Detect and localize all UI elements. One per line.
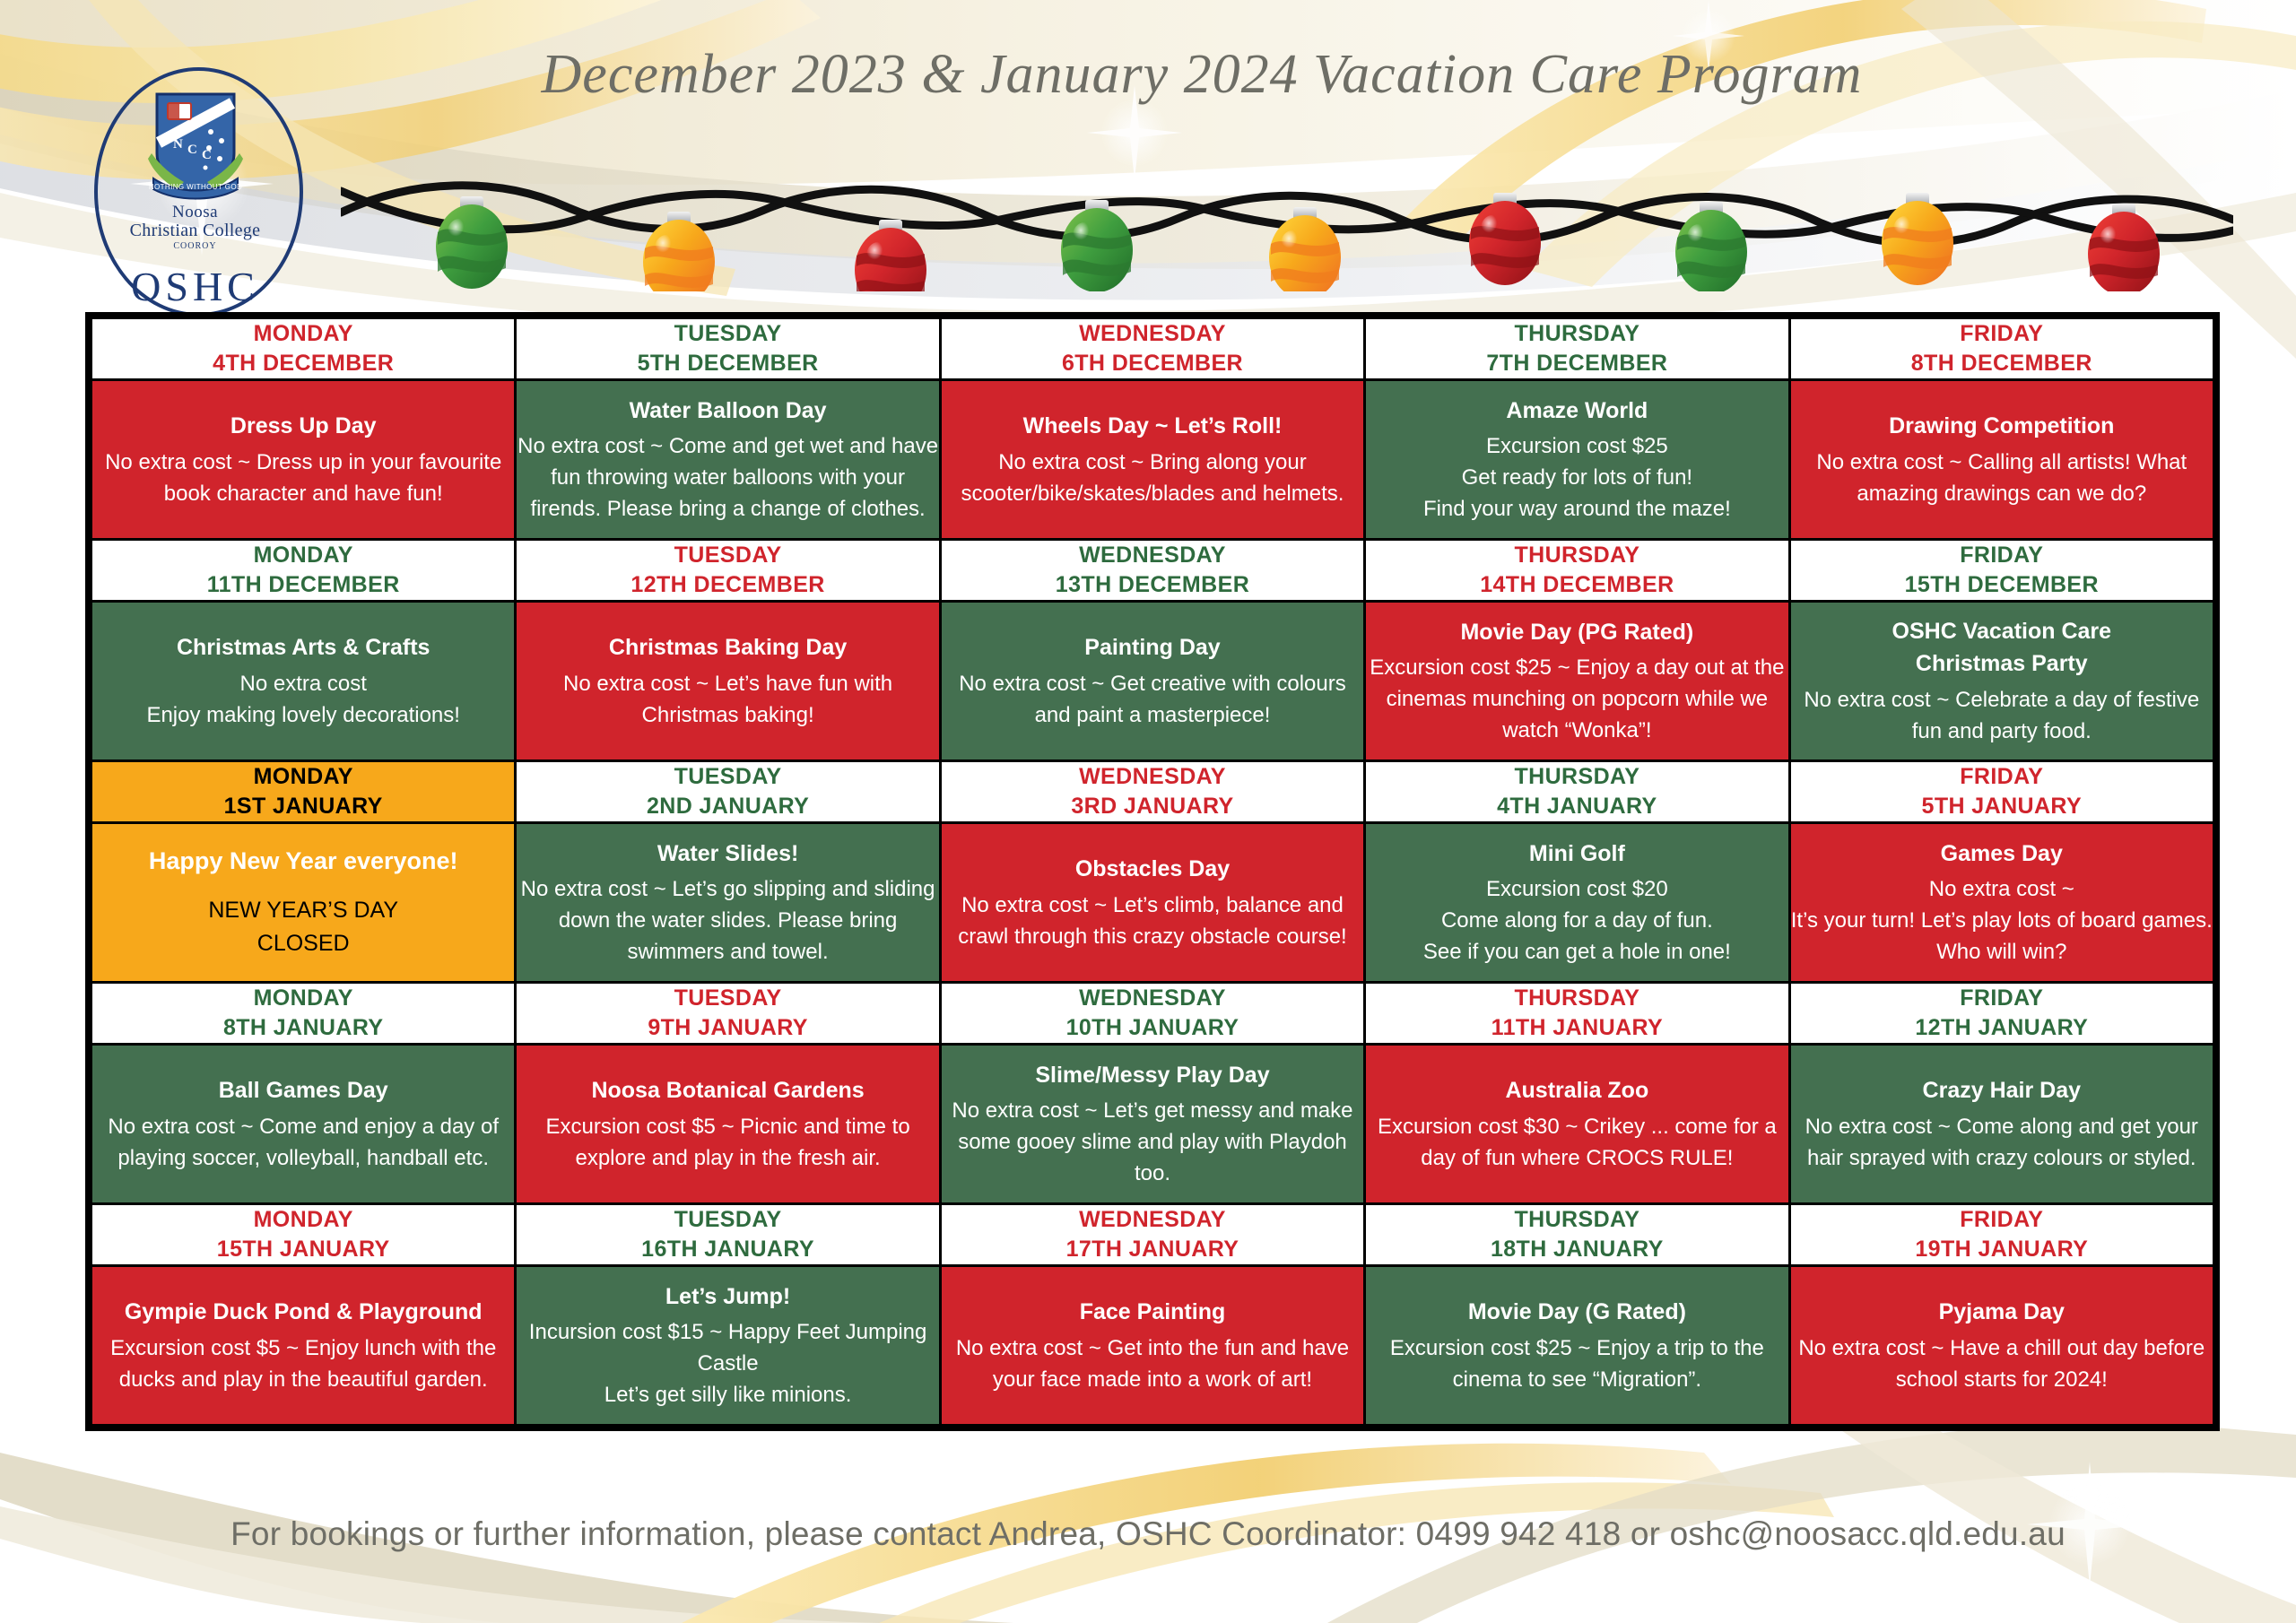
day-date-label: 8TH DECEMBER bbox=[1791, 349, 2213, 378]
day-of-week-label: MONDAY bbox=[92, 541, 514, 570]
day-of-week-label: TUESDAY bbox=[517, 541, 938, 570]
day-date-label: 11TH JANUARY bbox=[1366, 1013, 1787, 1043]
activity-cell[interactable]: Christmas Baking DayNo extra cost ~ Let’… bbox=[516, 602, 940, 761]
activity-description: Excursion cost $30 ~ Crikey ... come for… bbox=[1366, 1111, 1787, 1174]
activity-description: No extra cost ~ Bring along your scooter… bbox=[942, 447, 1363, 509]
activity-title: Water Slides! bbox=[517, 838, 938, 871]
activity-description: No extra cost ~ Let’s climb, balance and… bbox=[942, 890, 1363, 952]
activity-description: Excursion cost $20Come along for a day o… bbox=[1366, 873, 1787, 968]
activity-cell[interactable]: Christmas Arts & CraftsNo extra costEnjo… bbox=[91, 602, 516, 761]
logo-line-2: Christian College bbox=[94, 221, 296, 240]
day-date-label: 12TH JANUARY bbox=[1791, 1013, 2213, 1043]
day-date-label: 3RD JANUARY bbox=[942, 792, 1363, 821]
day-of-week-label: TUESDAY bbox=[517, 319, 938, 349]
activity-description: Excursion cost $25 ~ Enjoy a day out at … bbox=[1366, 652, 1787, 746]
activity-title: Slime/Messy Play Day bbox=[942, 1059, 1363, 1092]
activity-description: No extra cost ~ Let’s have fun with Chri… bbox=[517, 668, 938, 731]
calendar-activity-row: Happy New Year everyone!NEW YEAR’S DAYCL… bbox=[91, 823, 2214, 983]
day-of-week-label: FRIDAY bbox=[1791, 1205, 2213, 1235]
day-header-cell: FRIDAY15TH DECEMBER bbox=[1789, 540, 2213, 602]
day-header-cell: FRIDAY19TH JANUARY bbox=[1789, 1204, 2213, 1266]
day-header-cell: MONDAY4TH DECEMBER bbox=[91, 318, 516, 380]
day-date-label: 15TH DECEMBER bbox=[1791, 570, 2213, 600]
activity-cell[interactable]: Pyjama DayNo extra cost ~ Have a chill o… bbox=[1789, 1266, 2213, 1426]
activity-description: No extra cost ~ Get creative with colour… bbox=[942, 668, 1363, 731]
activity-description: Excursion cost $25 ~ Enjoy a trip to the… bbox=[1366, 1332, 1787, 1395]
day-of-week-label: THURSDAY bbox=[1366, 1205, 1787, 1235]
day-date-label: 11TH DECEMBER bbox=[92, 570, 514, 600]
activity-cell[interactable]: Australia ZooExcursion cost $30 ~ Crikey… bbox=[1365, 1045, 1789, 1204]
day-header-cell: TUESDAY12TH DECEMBER bbox=[516, 540, 940, 602]
bulb-orange-2 bbox=[1269, 207, 1341, 291]
school-logo: N C C NOTHING WITHOUT GOD Noosa Christia… bbox=[94, 67, 296, 309]
day-of-week-label: TUESDAY bbox=[517, 984, 938, 1013]
activity-title: Obstacles Day bbox=[942, 853, 1363, 886]
day-date-label: 18TH JANUARY bbox=[1366, 1235, 1787, 1264]
bulb-red-1 bbox=[855, 220, 926, 291]
activity-description: No extra cost ~ Come along and get your … bbox=[1791, 1111, 2213, 1174]
activity-title: Drawing Competition bbox=[1791, 410, 2213, 443]
day-date-label: 15TH JANUARY bbox=[92, 1235, 514, 1264]
day-date-label: 4TH DECEMBER bbox=[92, 349, 514, 378]
activity-cell[interactable]: Happy New Year everyone!NEW YEAR’S DAYCL… bbox=[91, 823, 516, 983]
day-of-week-label: FRIDAY bbox=[1791, 541, 2213, 570]
day-header-cell: THURSDAY7TH DECEMBER bbox=[1365, 318, 1789, 380]
calendar-header-row: MONDAY8TH JANUARYTUESDAY9TH JANUARYWEDNE… bbox=[91, 983, 2214, 1045]
day-header-cell: MONDAY1ST JANUARY bbox=[91, 761, 516, 823]
day-of-week-label: FRIDAY bbox=[1791, 762, 2213, 792]
activity-description: No extra cost ~It’s your turn! Let’s pla… bbox=[1791, 873, 2213, 968]
day-of-week-label: WEDNESDAY bbox=[942, 762, 1363, 792]
activity-cell[interactable]: Water Balloon DayNo extra cost ~ Come an… bbox=[516, 380, 940, 540]
activity-description: No extra cost ~ Celebrate a day of festi… bbox=[1791, 684, 2213, 747]
activity-cell[interactable]: Slime/Messy Play DayNo extra cost ~ Let’… bbox=[940, 1045, 1364, 1204]
activity-cell[interactable]: Painting DayNo extra cost ~ Get creative… bbox=[940, 602, 1364, 761]
activity-title: Movie Day (PG Rated) bbox=[1366, 616, 1787, 649]
calendar-activity-row: Gympie Duck Pond & PlaygroundExcursion c… bbox=[91, 1266, 2214, 1426]
poster-page: N C C NOTHING WITHOUT GOD Noosa Christia… bbox=[0, 0, 2296, 1623]
day-date-label: 12TH DECEMBER bbox=[517, 570, 938, 600]
day-date-label: 17TH JANUARY bbox=[942, 1235, 1363, 1264]
activity-title: Games Day bbox=[1791, 838, 2213, 871]
day-of-week-label: MONDAY bbox=[92, 984, 514, 1013]
poster-header: N C C NOTHING WITHOUT GOD Noosa Christia… bbox=[0, 0, 2296, 309]
day-date-label: 2ND JANUARY bbox=[517, 792, 938, 821]
day-header-cell: MONDAY11TH DECEMBER bbox=[91, 540, 516, 602]
activity-cell[interactable]: Ball Games DayNo extra cost ~ Come and e… bbox=[91, 1045, 516, 1204]
activity-cell[interactable]: Movie Day (G Rated)Excursion cost $25 ~ … bbox=[1365, 1266, 1789, 1426]
activity-title: Amaze World bbox=[1366, 395, 1787, 428]
activity-description: No extra cost ~ Come and enjoy a day of … bbox=[92, 1111, 514, 1174]
day-date-label: 5TH JANUARY bbox=[1791, 792, 2213, 821]
activity-description: No extra cost ~ Have a chill out day bef… bbox=[1791, 1332, 2213, 1395]
activity-cell[interactable]: Games DayNo extra cost ~It’s your turn! … bbox=[1789, 823, 2213, 983]
activity-title: Water Balloon Day bbox=[517, 395, 938, 428]
day-of-week-label: TUESDAY bbox=[517, 762, 938, 792]
day-date-label: 13TH DECEMBER bbox=[942, 570, 1363, 600]
activity-cell[interactable]: Let’s Jump!Incursion cost $15 ~ Happy Fe… bbox=[516, 1266, 940, 1426]
activity-description: No extra cost ~ Let’s go slipping and sl… bbox=[517, 873, 938, 968]
bulb-red-3 bbox=[2088, 204, 2160, 291]
day-header-cell: TUESDAY2ND JANUARY bbox=[516, 761, 940, 823]
activity-title: Noosa Botanical Gardens bbox=[517, 1074, 938, 1107]
day-header-cell: THURSDAY4TH JANUARY bbox=[1365, 761, 1789, 823]
calendar-table: MONDAY4TH DECEMBERTUESDAY5TH DECEMBERWED… bbox=[90, 317, 2215, 1427]
activity-cell[interactable]: Noosa Botanical GardensExcursion cost $5… bbox=[516, 1045, 940, 1204]
activity-title: Dress Up Day bbox=[92, 410, 514, 443]
activity-description: No extra cost ~ Come and get wet and hav… bbox=[517, 430, 938, 525]
day-date-label: 7TH DECEMBER bbox=[1366, 349, 1787, 378]
day-of-week-label: THURSDAY bbox=[1366, 762, 1787, 792]
bulb-green-1 bbox=[436, 196, 508, 289]
day-header-cell: TUESDAY9TH JANUARY bbox=[516, 983, 940, 1045]
day-header-cell: FRIDAY8TH DECEMBER bbox=[1789, 318, 2213, 380]
day-header-cell: THURSDAY14TH DECEMBER bbox=[1365, 540, 1789, 602]
day-date-label: 1ST JANUARY bbox=[92, 792, 514, 821]
lights-svg bbox=[341, 166, 2233, 291]
calendar-header-row: MONDAY15TH JANUARYTUESDAY16TH JANUARYWED… bbox=[91, 1204, 2214, 1266]
activity-title: Ball Games Day bbox=[92, 1074, 514, 1107]
bulb-green-2 bbox=[1061, 200, 1133, 291]
day-of-week-label: FRIDAY bbox=[1791, 984, 2213, 1013]
day-header-cell: WEDNESDAY6TH DECEMBER bbox=[940, 318, 1364, 380]
activity-cell[interactable]: Movie Day (PG Rated)Excursion cost $25 ~… bbox=[1365, 602, 1789, 761]
day-header-cell: WEDNESDAY13TH DECEMBER bbox=[940, 540, 1364, 602]
activity-title: Movie Day (G Rated) bbox=[1366, 1296, 1787, 1329]
activity-title: OSHC Vacation CareChristmas Party bbox=[1791, 615, 2213, 681]
activity-cell[interactable]: Mini GolfExcursion cost $20Come along fo… bbox=[1365, 823, 1789, 983]
activity-cell[interactable]: Wheels Day ~ Let’s Roll!No extra cost ~ … bbox=[940, 380, 1364, 540]
activity-cell[interactable]: Face PaintingNo extra cost ~ Get into th… bbox=[940, 1266, 1364, 1426]
activity-description: No extra cost ~ Get into the fun and hav… bbox=[942, 1332, 1363, 1395]
day-date-label: 14TH DECEMBER bbox=[1366, 570, 1787, 600]
activity-title: Christmas Arts & Crafts bbox=[92, 631, 514, 664]
day-header-cell: WEDNESDAY17TH JANUARY bbox=[940, 1204, 1364, 1266]
vacation-care-calendar: MONDAY4TH DECEMBERTUESDAY5TH DECEMBERWED… bbox=[85, 312, 2220, 1431]
day-date-label: 19TH JANUARY bbox=[1791, 1235, 2213, 1264]
day-of-week-label: WEDNESDAY bbox=[942, 541, 1363, 570]
day-header-cell: WEDNESDAY10TH JANUARY bbox=[940, 983, 1364, 1045]
activity-title: Crazy Hair Day bbox=[1791, 1074, 2213, 1107]
activity-title: Let’s Jump! bbox=[517, 1280, 938, 1314]
activity-title: Mini Golf bbox=[1366, 838, 1787, 871]
day-date-label: 5TH DECEMBER bbox=[517, 349, 938, 378]
day-header-cell: TUESDAY16TH JANUARY bbox=[516, 1204, 940, 1266]
activity-description: Excursion cost $5 ~ Enjoy lunch with the… bbox=[92, 1332, 514, 1395]
day-of-week-label: MONDAY bbox=[92, 319, 514, 349]
calendar-activity-row: Ball Games DayNo extra cost ~ Come and e… bbox=[91, 1045, 2214, 1204]
activity-cell[interactable]: Dress Up DayNo extra cost ~ Dress up in … bbox=[91, 380, 516, 540]
logo-line-3: COOROY bbox=[94, 242, 296, 252]
day-of-week-label: THURSDAY bbox=[1366, 984, 1787, 1013]
activity-description: No extra cost ~ Dress up in your favouri… bbox=[92, 447, 514, 509]
crest-motto: NOTHING WITHOUT GOD bbox=[148, 183, 241, 191]
day-header-cell: MONDAY8TH JANUARY bbox=[91, 983, 516, 1045]
day-of-week-label: FRIDAY bbox=[1791, 319, 2213, 349]
svg-text:C: C bbox=[187, 143, 197, 157]
activity-description: No extra cost ~ Calling all artists! Wha… bbox=[1791, 447, 2213, 509]
calendar-activity-row: Christmas Arts & CraftsNo extra costEnjo… bbox=[91, 602, 2214, 761]
day-header-cell: THURSDAY18TH JANUARY bbox=[1365, 1204, 1789, 1266]
day-of-week-label: TUESDAY bbox=[517, 1205, 938, 1235]
activity-title: Happy New Year everyone! bbox=[92, 844, 514, 879]
day-of-week-label: WEDNESDAY bbox=[942, 319, 1363, 349]
day-date-label: 4TH JANUARY bbox=[1366, 792, 1787, 821]
day-header-cell: THURSDAY11TH JANUARY bbox=[1365, 983, 1789, 1045]
activity-cell[interactable]: Crazy Hair DayNo extra cost ~ Come along… bbox=[1789, 1045, 2213, 1204]
activity-title: Painting Day bbox=[942, 631, 1363, 664]
day-header-cell: TUESDAY5TH DECEMBER bbox=[516, 318, 940, 380]
day-date-label: 16TH JANUARY bbox=[517, 1235, 938, 1264]
activity-description: Incursion cost $15 ~ Happy Feet Jumping … bbox=[517, 1316, 938, 1410]
page-title: December 2023 & January 2024 Vacation Ca… bbox=[502, 43, 1901, 107]
day-of-week-label: MONDAY bbox=[92, 762, 514, 792]
activity-cell[interactable]: Gympie Duck Pond & PlaygroundExcursion c… bbox=[91, 1266, 516, 1426]
day-header-cell: WEDNESDAY3RD JANUARY bbox=[940, 761, 1364, 823]
activity-title: Australia Zoo bbox=[1366, 1074, 1787, 1107]
day-header-cell: MONDAY15TH JANUARY bbox=[91, 1204, 516, 1266]
school-crest-icon: N C C NOTHING WITHOUT GOD bbox=[146, 89, 245, 204]
calendar-header-row: MONDAY4TH DECEMBERTUESDAY5TH DECEMBERWED… bbox=[91, 318, 2214, 380]
logo-school-name: Noosa Christian College COOROY bbox=[94, 204, 296, 251]
day-of-week-label: THURSDAY bbox=[1366, 541, 1787, 570]
day-date-label: 8TH JANUARY bbox=[92, 1013, 514, 1043]
activity-title: Wheels Day ~ Let’s Roll! bbox=[942, 410, 1363, 443]
day-date-label: 6TH DECEMBER bbox=[942, 349, 1363, 378]
activity-description: Excursion cost $5 ~ Picnic and time to e… bbox=[517, 1111, 938, 1174]
day-of-week-label: WEDNESDAY bbox=[942, 1205, 1363, 1235]
day-date-label: 9TH JANUARY bbox=[517, 1013, 938, 1043]
day-of-week-label: WEDNESDAY bbox=[942, 984, 1363, 1013]
bulb-green-3 bbox=[1675, 202, 1747, 291]
activity-cell[interactable]: Obstacles DayNo extra cost ~ Let’s climb… bbox=[940, 823, 1364, 983]
calendar-activity-row: Dress Up DayNo extra cost ~ Dress up in … bbox=[91, 380, 2214, 540]
logo-line-1: Noosa bbox=[94, 204, 296, 221]
day-of-week-label: MONDAY bbox=[92, 1205, 514, 1235]
activity-title: Pyjama Day bbox=[1791, 1296, 2213, 1329]
activity-title: Gympie Duck Pond & Playground bbox=[92, 1296, 514, 1329]
day-date-label: 10TH JANUARY bbox=[942, 1013, 1363, 1043]
activity-description: NEW YEAR’S DAYCLOSED bbox=[92, 894, 514, 961]
activity-cell[interactable]: Water Slides!No extra cost ~ Let’s go sl… bbox=[516, 823, 940, 983]
activity-cell[interactable]: Amaze WorldExcursion cost $25Get ready f… bbox=[1365, 380, 1789, 540]
activity-title: Christmas Baking Day bbox=[517, 631, 938, 664]
activity-cell[interactable]: Drawing CompetitionNo extra cost ~ Calli… bbox=[1789, 380, 2213, 540]
contact-footer: For bookings or further information, ple… bbox=[0, 1515, 2296, 1553]
svg-text:N: N bbox=[173, 137, 183, 152]
activity-description: Excursion cost $25Get ready for lots of … bbox=[1366, 430, 1787, 525]
calendar-header-row: MONDAY11TH DECEMBERTUESDAY12TH DECEMBERW… bbox=[91, 540, 2214, 602]
calendar-header-row: MONDAY1ST JANUARYTUESDAY2ND JANUARYWEDNE… bbox=[91, 761, 2214, 823]
day-of-week-label: THURSDAY bbox=[1366, 319, 1787, 349]
logo-oshc-text: OSHC bbox=[94, 263, 296, 310]
activity-cell[interactable]: OSHC Vacation CareChristmas PartyNo extr… bbox=[1789, 602, 2213, 761]
day-header-cell: FRIDAY12TH JANUARY bbox=[1789, 983, 2213, 1045]
day-header-cell: FRIDAY5TH JANUARY bbox=[1789, 761, 2213, 823]
activity-title: Face Painting bbox=[942, 1296, 1363, 1329]
activity-description: No extra cost ~ Let’s get messy and make… bbox=[942, 1095, 1363, 1189]
activity-description: No extra costEnjoy making lovely decorat… bbox=[92, 668, 514, 731]
christmas-lights-string bbox=[341, 166, 2233, 291]
